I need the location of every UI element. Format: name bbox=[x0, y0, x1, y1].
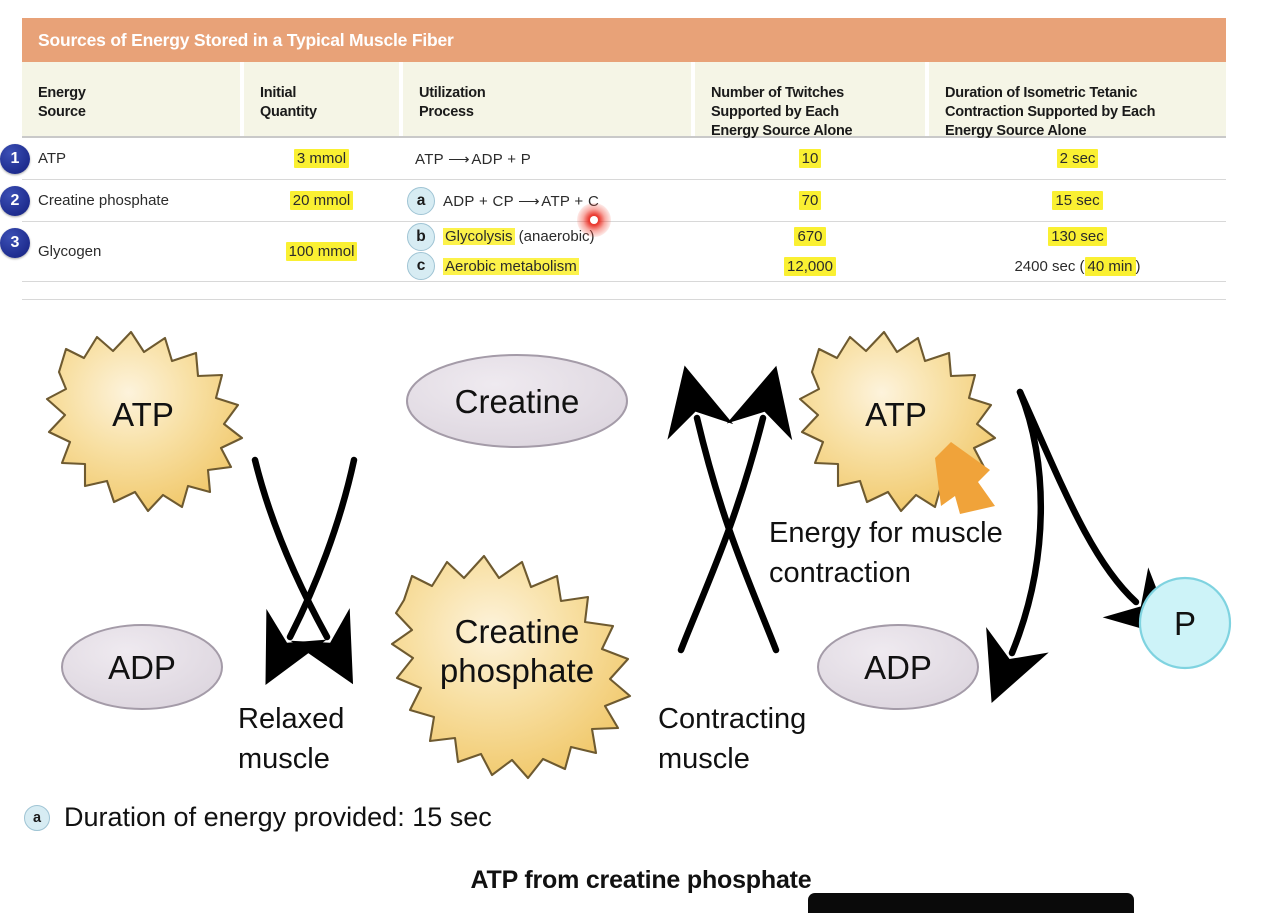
process-subrow-c: c Aerobic metabolism bbox=[407, 252, 579, 282]
row-number-badge-2: 2 bbox=[0, 186, 30, 216]
cell-energy-source: Glycogen bbox=[22, 222, 240, 281]
process-reactant: ADP + CP bbox=[443, 193, 514, 210]
node-label: ATP bbox=[865, 396, 927, 433]
table-title: Sources of Energy Stored in a Typical Mu… bbox=[38, 30, 454, 51]
cell-energy-source: Creatine phosphate bbox=[22, 180, 240, 221]
table-header-row: Energy Source Initial Quantity Utilizati… bbox=[22, 62, 1226, 138]
column-header-initial-quantity: Initial Quantity bbox=[244, 62, 399, 136]
process-product: ATP + C bbox=[541, 193, 599, 210]
table-row: 2 Creatine phosphate 20 mmol a ADP + CP … bbox=[22, 180, 1226, 222]
node-label-line1: Creatine bbox=[455, 613, 580, 650]
twitches-value: 70 bbox=[799, 191, 822, 210]
arrow-cp-to-creatine bbox=[290, 460, 354, 637]
process-name: Glycolysis bbox=[443, 228, 515, 245]
node-label: ADP bbox=[108, 649, 176, 686]
node-label: Creatine bbox=[455, 383, 580, 420]
duration-tail: ) bbox=[1136, 258, 1141, 275]
cell-utilization-process: b Glycolysis (anaerobic) c Aerobic metab… bbox=[403, 222, 691, 281]
letter-badge-a: a bbox=[24, 805, 50, 831]
column-header-utilization-process: Utilization Process bbox=[403, 62, 691, 136]
arrow-adp-to-creatine bbox=[681, 418, 763, 650]
header-line: Duration of Isometric Tetanic bbox=[945, 84, 1226, 103]
energy-sources-table: Sources of Energy Stored in a Typical Mu… bbox=[22, 18, 1226, 300]
node-label: P bbox=[1174, 605, 1196, 642]
footnote-a: a Duration of energy provided: 15 sec bbox=[24, 802, 492, 833]
node-label: ADP bbox=[864, 649, 932, 686]
twitches-value: 12,000 bbox=[784, 257, 836, 276]
process-reactant: ATP bbox=[415, 151, 444, 168]
letter-badge-a: a bbox=[407, 187, 435, 215]
node-phosphate: P bbox=[1140, 578, 1230, 668]
letter-badge-b: b bbox=[407, 223, 435, 251]
process-name: Aerobic metabolism bbox=[443, 258, 579, 275]
caption-relaxed-line2: muscle bbox=[238, 743, 330, 775]
process-subrow-b: b Glycolysis (anaerobic) bbox=[407, 222, 595, 252]
header-line: Utilization bbox=[419, 84, 691, 103]
header-line: Initial bbox=[260, 84, 399, 103]
cell-energy-source: ATP bbox=[22, 138, 240, 179]
cell-number-of-twitches: 70 bbox=[695, 180, 925, 221]
energy-release-arrow-icon bbox=[935, 442, 995, 514]
reaction-arrow-icon: ⟶ bbox=[518, 193, 538, 210]
caption-contracting-line1: Contracting bbox=[658, 703, 806, 735]
duration-value: 2 sec bbox=[1057, 149, 1099, 168]
cell-duration: 2 sec bbox=[929, 138, 1226, 179]
cell-number-of-twitches: 670 12,000 bbox=[695, 222, 925, 281]
cell-utilization-process: a ADP + CP ⟶ ATP + C bbox=[403, 180, 691, 221]
atp-creatine-phosphate-diagram: ATP ADP Creatine Creatine phosphate ATP … bbox=[0, 310, 1282, 810]
energy-text-line1: Energy for muscle bbox=[769, 517, 1003, 549]
arrow-cp-to-atp-right bbox=[697, 418, 776, 650]
table-title-bar: Sources of Energy Stored in a Typical Mu… bbox=[22, 18, 1226, 62]
cell-duration: 15 sec bbox=[929, 180, 1226, 221]
energy-text-line2: contraction bbox=[769, 557, 911, 589]
node-adp-right: ADP bbox=[818, 625, 978, 709]
column-header-duration-isometric-tetanic: Duration of Isometric Tetanic Contractio… bbox=[929, 62, 1226, 136]
quantity-value: 3 mmol bbox=[294, 149, 349, 168]
footnote-text: Duration of energy provided: 15 sec bbox=[64, 802, 492, 833]
duration-value: 130 sec bbox=[1048, 227, 1107, 246]
cell-utilization-process: ATP ⟶ ADP + P bbox=[403, 138, 691, 179]
node-label-line2: phosphate bbox=[440, 652, 594, 689]
duration-value: 2400 sec ( bbox=[1014, 258, 1084, 275]
caption-contracting-line2: muscle bbox=[658, 743, 750, 775]
cell-initial-quantity: 3 mmol bbox=[244, 138, 399, 179]
arrow-atp-to-adp bbox=[255, 460, 327, 637]
process-qualifier: (anaerobic) bbox=[515, 228, 595, 245]
cell-duration: 130 sec 2400 sec (40 min) bbox=[929, 222, 1226, 281]
header-line: Source bbox=[38, 103, 240, 122]
twitches-value: 670 bbox=[794, 227, 825, 246]
quantity-value: 20 mmol bbox=[290, 191, 354, 210]
reaction-arrow-icon: ⟶ bbox=[448, 151, 468, 168]
header-line: Quantity bbox=[260, 103, 399, 122]
row-number-badge-1: 1 bbox=[0, 144, 30, 174]
node-creatine: Creatine bbox=[407, 355, 627, 447]
header-line: Energy bbox=[38, 84, 240, 103]
table-row: 1 ATP 3 mmol ATP ⟶ ADP + P 10 2 sec bbox=[22, 138, 1226, 180]
letter-badge-c: c bbox=[407, 252, 435, 280]
cell-number-of-twitches: 10 bbox=[695, 138, 925, 179]
column-header-number-of-twitches: Number of Twitches Supported by Each Ene… bbox=[695, 62, 925, 136]
header-line: Number of Twitches bbox=[711, 84, 925, 103]
table-row: 3 Glycogen 100 mmol b Glycolysis (anaero… bbox=[22, 222, 1226, 282]
table-footer-rule bbox=[22, 282, 1226, 300]
duration-value: 15 sec bbox=[1052, 191, 1102, 210]
header-line: Supported by Each bbox=[711, 103, 925, 122]
figure-title: ATP from creatine phosphate bbox=[0, 866, 1282, 895]
twitches-value: 10 bbox=[799, 149, 822, 168]
column-header-energy-source: Energy Source bbox=[22, 62, 240, 136]
header-line: Contraction Supported by Each bbox=[945, 103, 1226, 122]
node-atp-left: ATP bbox=[47, 332, 242, 511]
node-label: ATP bbox=[112, 396, 174, 433]
bottom-overlay-bar[interactable] bbox=[808, 893, 1134, 913]
node-creatine-phosphate: Creatine phosphate bbox=[392, 556, 630, 778]
cell-initial-quantity: 20 mmol bbox=[244, 180, 399, 221]
header-line: Process bbox=[419, 103, 691, 122]
cell-initial-quantity: 100 mmol bbox=[244, 222, 399, 281]
node-adp-left: ADP bbox=[62, 625, 222, 709]
duration-minutes: 40 min bbox=[1085, 257, 1136, 276]
quantity-value: 100 mmol bbox=[286, 242, 358, 261]
caption-relaxed-line1: Relaxed bbox=[238, 703, 344, 735]
process-product: ADP + P bbox=[471, 151, 531, 168]
row-number-badge-3: 3 bbox=[0, 228, 30, 258]
